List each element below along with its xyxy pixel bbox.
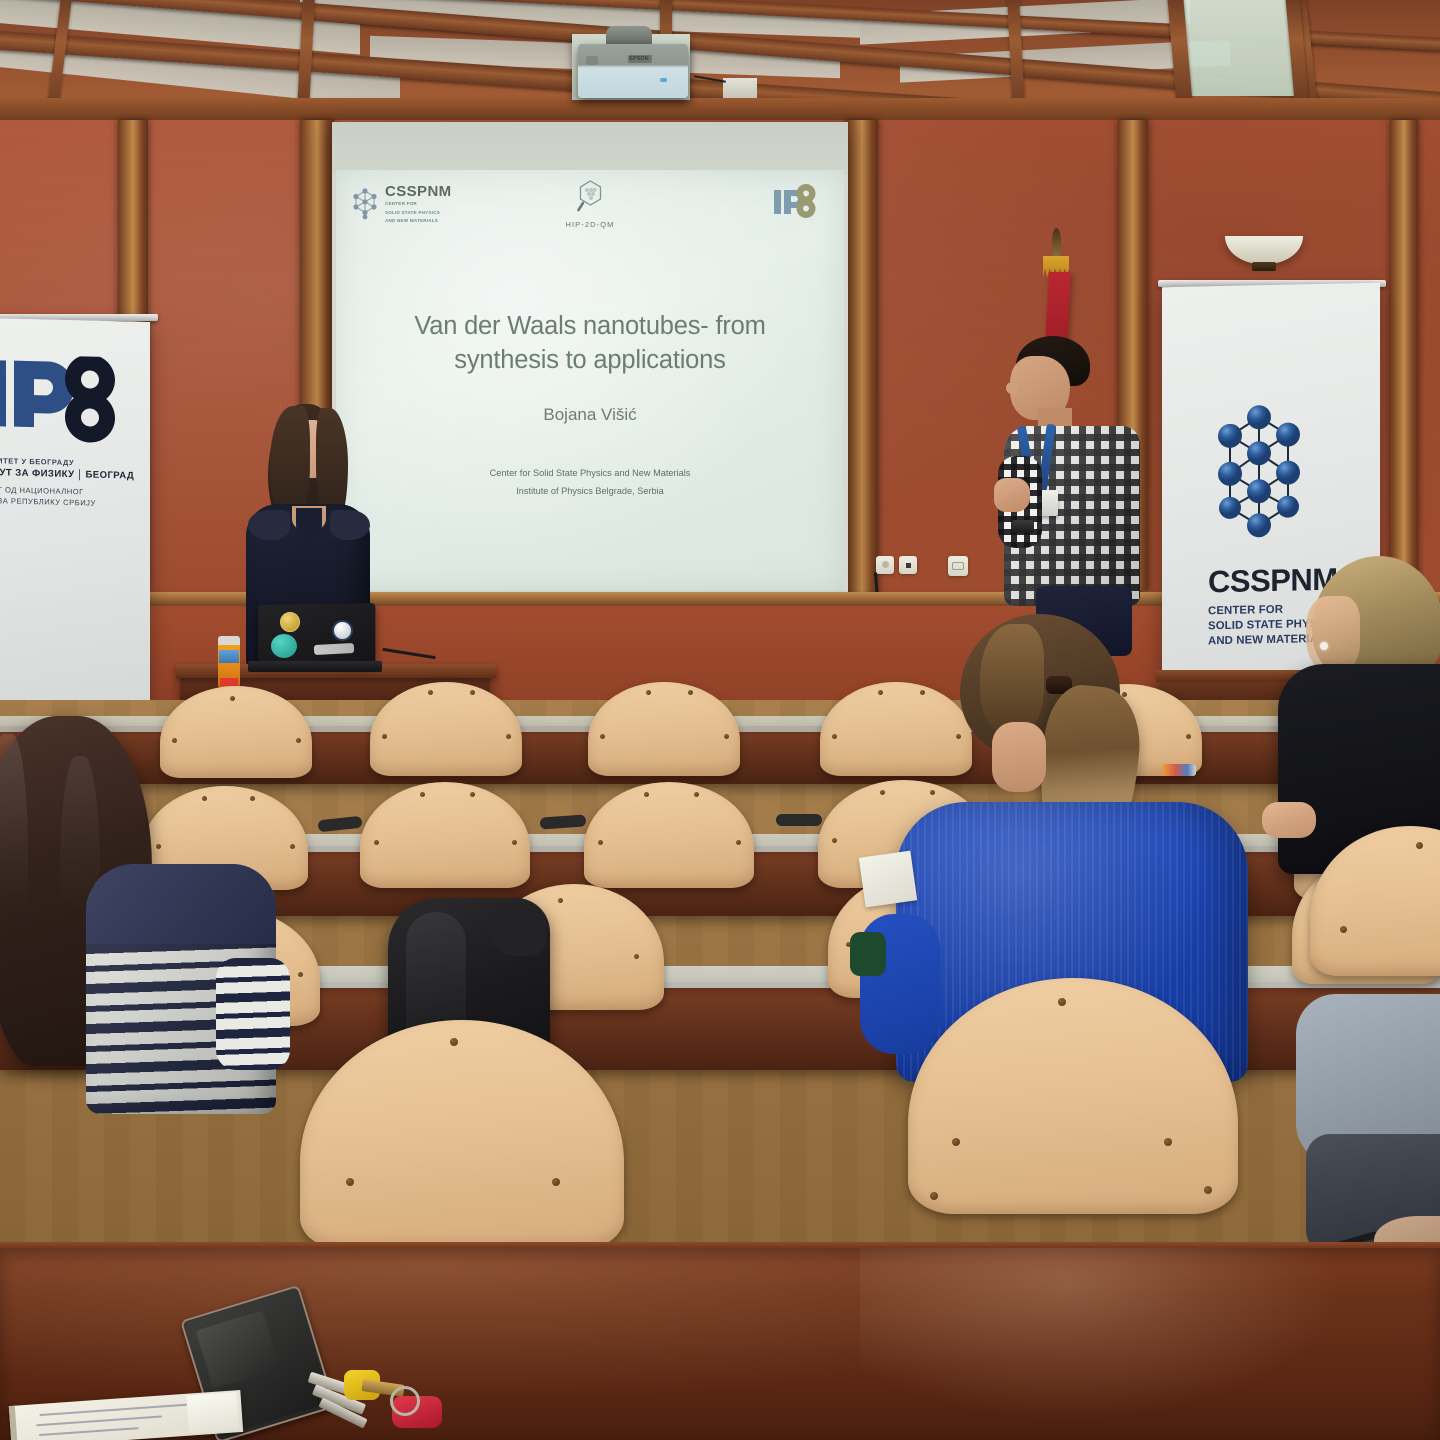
person-far-right [1286,994,1440,1254]
wall-pilaster-mid-right [846,120,878,600]
moderator-hands [994,478,1030,512]
flag-pole-finial [1052,228,1061,256]
attendee-right-hand [1262,802,1316,838]
projector-brand-label: EPSON [624,56,654,63]
slide-logo-csspnm-name: CSSPNM [385,184,452,199]
light-switch[interactable] [948,556,968,576]
laptop-sticker-gold [280,612,300,632]
banner-ipb: УНИВЕРЗИТЕТ У БЕОГРАДУ ИНСТИТУТ ЗА ФИЗИК… [0,318,150,722]
wall-sconce-base [1252,262,1276,271]
screen-top-blank-area [332,122,848,174]
laptop-base [248,661,382,672]
slide-affiliation: Center for Solid State Physics and New M… [336,465,844,501]
lecture-hall-photo: EPSON [0,0,1440,1440]
slide-logo-hip2dqm: HIP-2D-QM [565,178,614,229]
aerosol-can [218,636,240,688]
projector-power-box [723,78,757,98]
wristwatch [1012,520,1034,533]
slide-logo-csspnm-sub3: AND NEW MATERIALS [385,218,452,225]
molecule-lattice-icon [350,187,380,221]
slide-logo-csspnm-sub2: SOLID STATE PHYSICS [385,210,452,217]
slide-title-line2: synthesis to applications [366,344,814,378]
presentation-slide: CSSPNM CENTER FOR SOLID STATE PHYSICS AN… [336,170,844,592]
slide-logo-csspnm-sub1: CENTER FOR [385,201,452,208]
slide-logo-hip-label: HIP-2D-QM [565,220,614,229]
slide-title-line1: Van der Waals nanotubes- from [366,310,814,344]
banner-ipb-logo [0,354,144,444]
power-socket-2[interactable] [899,556,917,574]
banner-ipb-line2a: ИНСТИТУТ ЗА ФИЗИКУ [0,466,74,480]
person-attendee-striped [0,716,310,1216]
slide-logo-ipb [772,182,828,227]
slide-logo-row: CSSPNM CENTER FOR SOLID STATE PHYSICS AN… [336,178,844,238]
slide-logo-csspnm: CSSPNM CENTER FOR SOLID STATE PHYSICS AN… [350,184,452,225]
chair-arm-3 [776,814,822,826]
ipb-logo-icon [772,182,828,222]
slide-affiliation-line2: Institute of Physics Belgrade, Serbia [336,483,844,501]
slide-affiliation-line1: Center for Solid State Physics and New M… [336,465,844,483]
keyring[interactable] [308,1368,458,1440]
banner-ipb-line2b: БЕОГРАД [85,469,134,481]
projection-screen: CSSPNM CENTER FOR SOLID STATE PHYSICS AN… [332,122,848,600]
laptop-sticker-teal [271,634,297,658]
slide-title: Van der Waals nanotubes- from synthesis … [366,310,814,377]
ceiling-projector: EPSON [578,44,688,98]
molecule-lattice-large-icon [1210,402,1308,554]
key-split-ring [390,1386,420,1416]
presenter-laptop[interactable] [256,604,380,670]
slide-author: Bojana Višić [336,405,844,425]
laptop-sticker-emblem [332,620,353,641]
person-moderator [990,336,1150,636]
power-socket-1[interactable] [876,556,894,574]
laptop-sticker-script [314,643,354,655]
hexagon-magnifier-icon [573,178,607,214]
wall-pilaster-far-right [1390,120,1418,590]
ipb-logo-large-icon [0,354,146,444]
paper-sheet [859,851,917,908]
earring [1320,642,1328,650]
